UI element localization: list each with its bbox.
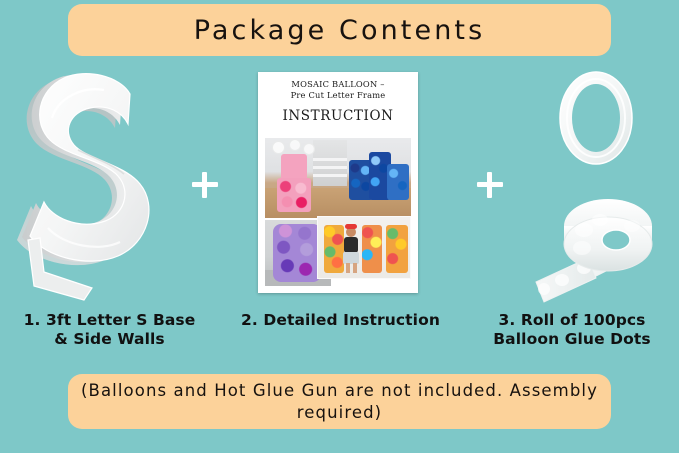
item-2-caption-line-1: 2. Detailed Instruction	[233, 311, 448, 330]
title-banner: Package Contents	[68, 4, 611, 56]
item-3-caption-line-1: 3. Roll of 100pcs	[466, 311, 678, 330]
package-contents-graphic: Package Contents	[0, 0, 679, 453]
booklet-heading: INSTRUCTION	[264, 108, 412, 124]
photo-rainbow-balloon-letters-two	[317, 216, 411, 279]
item-3-caption-line-2: Balloon Glue Dots	[466, 330, 678, 349]
foam-letter-s-image	[8, 58, 183, 306]
glue-dot-rolls-image	[518, 68, 674, 306]
booklet-title-line-2: Pre Cut Letter Frame	[264, 90, 412, 101]
page-title: Package Contents	[194, 15, 486, 46]
disclaimer-text: (Balloons and Hot Glue Gun are not inclu…	[78, 380, 601, 422]
booklet-title-line-1: MOSAIC BALLOON –	[264, 79, 412, 90]
item-1-caption-line-2: & Side Walls	[2, 330, 217, 349]
disclaimer-banner: (Balloons and Hot Glue Gun are not inclu…	[68, 374, 611, 429]
booklet-photo-collage	[265, 138, 411, 286]
item-3-caption: 3. Roll of 100pcs Balloon Glue Dots	[466, 311, 678, 349]
plus-separator-icon-2	[477, 172, 503, 198]
item-2-caption: 2. Detailed Instruction	[233, 311, 448, 330]
item-1-caption-line-1: 1. 3ft Letter S Base	[2, 311, 217, 330]
item-1-caption: 1. 3ft Letter S Base & Side Walls	[2, 311, 217, 349]
instruction-booklet-image: MOSAIC BALLOON – Pre Cut Letter Frame IN…	[258, 72, 418, 293]
photo-pink-and-blue-balloon-letters	[265, 138, 411, 218]
booklet-header: MOSAIC BALLOON – Pre Cut Letter Frame IN…	[258, 72, 418, 126]
plus-separator-icon-1	[192, 172, 218, 198]
